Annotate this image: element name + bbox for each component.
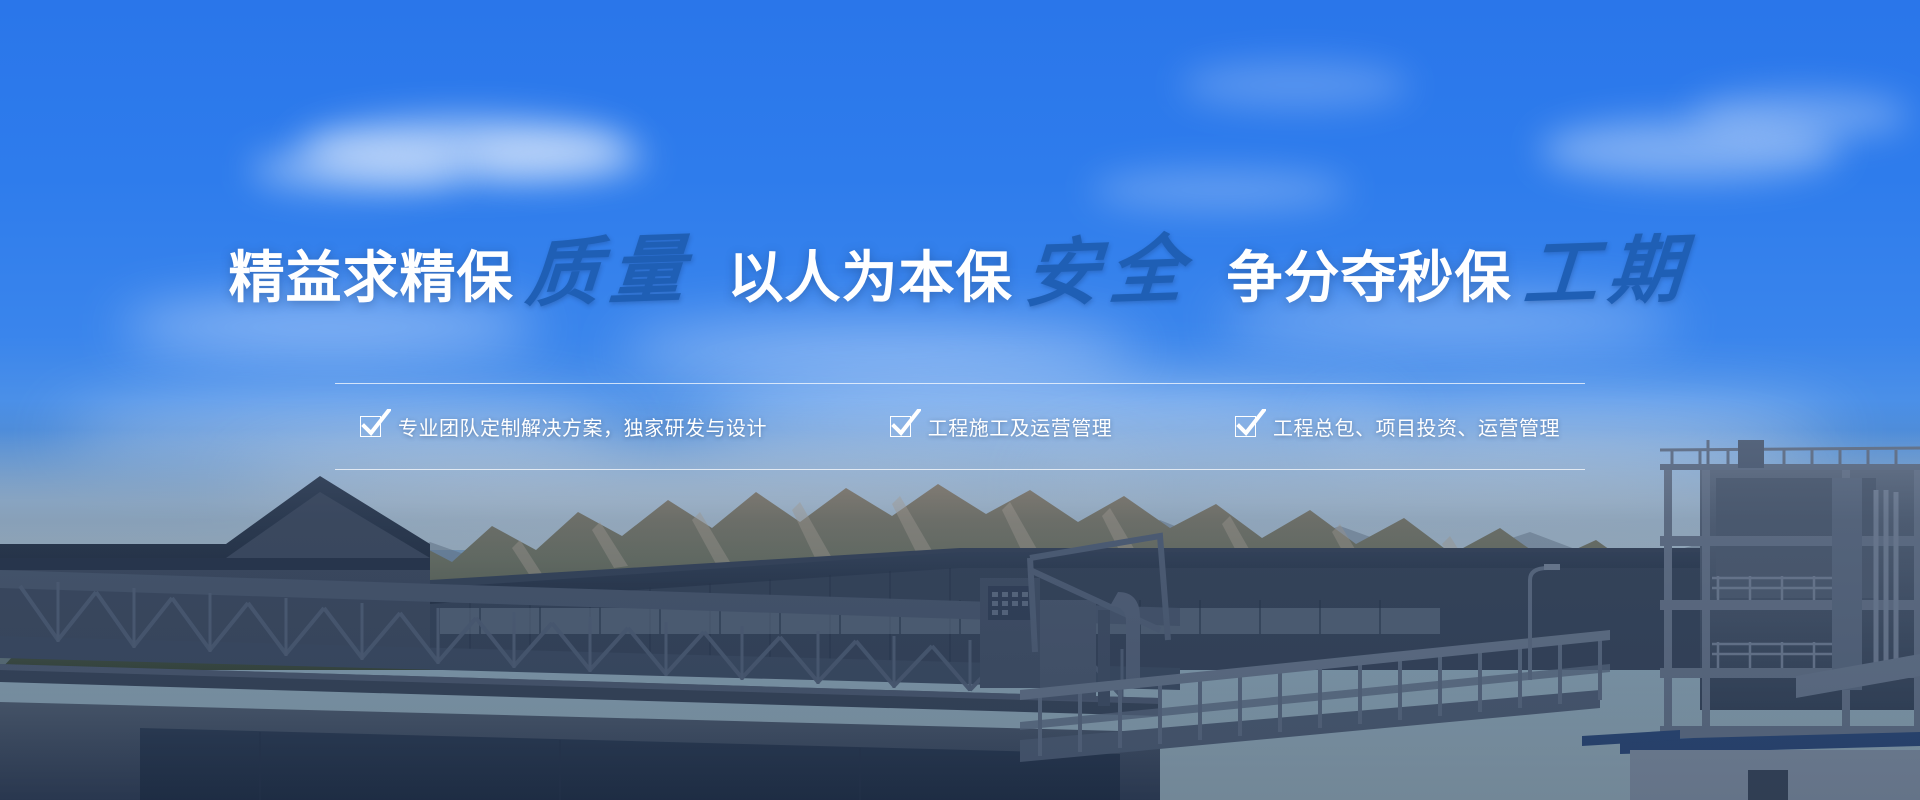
cloud [1690, 92, 1910, 138]
feature-label-1: 专业团队定制解决方案，独家研发与设计 [398, 412, 767, 441]
feature-list-container: 专业团队定制解决方案，独家研发与设计 工程施工及运营管理 工程总包、项目投资、运… [335, 383, 1585, 470]
feature-label-3: 工程总包、项目投资、运营管理 [1273, 412, 1560, 441]
headline-callig-3: 工期 [1521, 233, 1695, 313]
headline-plain-2: 以人为本保 [728, 250, 1013, 306]
headline-plain-3: 争分夺秒保 [1227, 250, 1512, 306]
headline-phrase-2: 以人为本保 安全 [728, 236, 1193, 310]
headline-callig-1: 质量 [523, 233, 697, 313]
feature-list: 专业团队定制解决方案，独家研发与设计 工程施工及运营管理 工程总包、项目投资、运… [335, 384, 1585, 469]
cloud [620, 320, 1140, 378]
cloud [250, 148, 460, 192]
industrial-plant-illustration [0, 440, 1920, 800]
hero-banner: 精益求精保 质量 以人为本保 安全 争分夺秒保 工期 专业团队定制解决方案，独家… [0, 0, 1920, 800]
headline-callig-2: 安全 [1022, 233, 1196, 313]
headline: 精益求精保 质量 以人为本保 安全 争分夺秒保 工期 [0, 236, 1920, 310]
headline-phrase-1: 精益求精保 质量 [229, 236, 694, 310]
cloud [1180, 62, 1410, 108]
feature-label-2: 工程施工及运营管理 [928, 412, 1113, 441]
checkbox-checked-icon [1235, 416, 1256, 437]
feature-item-3[interactable]: 工程总包、项目投资、运营管理 [1235, 412, 1560, 441]
cloud [1090, 170, 1350, 210]
headline-plain-1: 精益求精保 [229, 250, 514, 306]
feature-item-2[interactable]: 工程施工及运营管理 [890, 412, 1113, 441]
checkbox-checked-icon [360, 416, 381, 437]
headline-phrase-3: 争分夺秒保 工期 [1227, 236, 1692, 310]
checkbox-checked-icon [890, 416, 911, 437]
cloud [470, 140, 650, 178]
feature-item-1[interactable]: 专业团队定制解决方案，独家研发与设计 [360, 412, 767, 441]
